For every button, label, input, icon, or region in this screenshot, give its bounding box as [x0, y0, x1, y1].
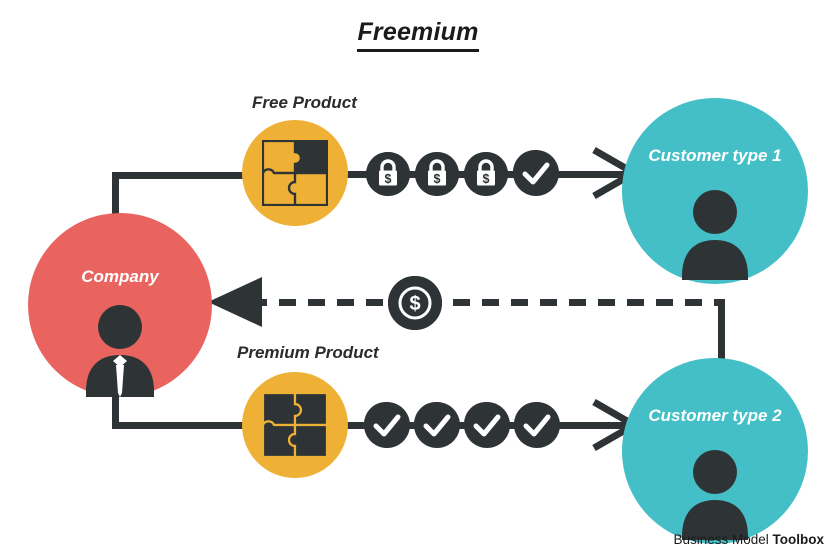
svg-text:$: $ — [434, 172, 441, 186]
puzzle-partial-icon — [262, 140, 328, 206]
badge-check-bottom-1[interactable] — [364, 402, 408, 446]
node-customer-type-2[interactable]: Customer type 2 — [622, 358, 808, 544]
node-company-label: Company — [28, 267, 212, 287]
revenue-down-riser — [718, 299, 725, 367]
check-icon — [464, 402, 510, 448]
lock-dollar-icon: $ — [464, 152, 508, 196]
badge-check-bottom-4[interactable] — [514, 402, 558, 446]
check-icon — [364, 402, 410, 448]
page-title: Freemium — [0, 18, 836, 47]
node-free-product-label: Free Product — [252, 93, 357, 113]
check-icon — [513, 150, 559, 196]
check-icon — [514, 402, 560, 448]
badge-check-top-4[interactable] — [513, 150, 557, 194]
page-title-text: Freemium — [357, 18, 478, 52]
svg-text:$: $ — [483, 172, 490, 186]
arrow-left-icon — [208, 277, 264, 327]
lock-dollar-icon: $ — [415, 152, 459, 196]
lock-dollar-icon: $ — [366, 152, 410, 196]
check-icon — [414, 402, 460, 448]
coin-dollar-icon: $ — [388, 276, 442, 330]
diagram-canvas: Freemium Company Free Product — [0, 0, 836, 557]
svg-text:$: $ — [409, 293, 420, 315]
badge-check-bottom-3[interactable] — [464, 402, 508, 446]
businessman-icon — [80, 305, 160, 397]
node-customer-type-2-label: Customer type 2 — [622, 406, 808, 426]
person-icon — [677, 450, 753, 540]
badge-lock-dollar-1[interactable]: $ — [366, 152, 410, 196]
svg-text:$: $ — [385, 172, 392, 186]
footer-attribution: Business Model Toolbox — [673, 532, 824, 547]
node-free-product[interactable] — [242, 120, 348, 226]
person-icon — [677, 190, 753, 280]
footer-brand: Toolbox — [773, 532, 825, 547]
node-customer-type-1-label: Customer type 1 — [622, 146, 808, 166]
node-premium-product-label: Premium Product — [237, 343, 379, 363]
puzzle-full-icon — [262, 392, 328, 458]
footer-prefix: Business Model — [673, 532, 772, 547]
badge-coin-dollar[interactable]: $ — [388, 276, 442, 330]
node-premium-product[interactable] — [242, 372, 348, 478]
badge-check-bottom-2[interactable] — [414, 402, 458, 446]
node-company[interactable]: Company — [28, 213, 212, 397]
node-customer-type-1[interactable]: Customer type 1 — [622, 98, 808, 284]
badge-lock-dollar-2[interactable]: $ — [415, 152, 459, 196]
badge-lock-dollar-3[interactable]: $ — [464, 152, 508, 196]
revenue-dashed-line — [250, 299, 725, 306]
